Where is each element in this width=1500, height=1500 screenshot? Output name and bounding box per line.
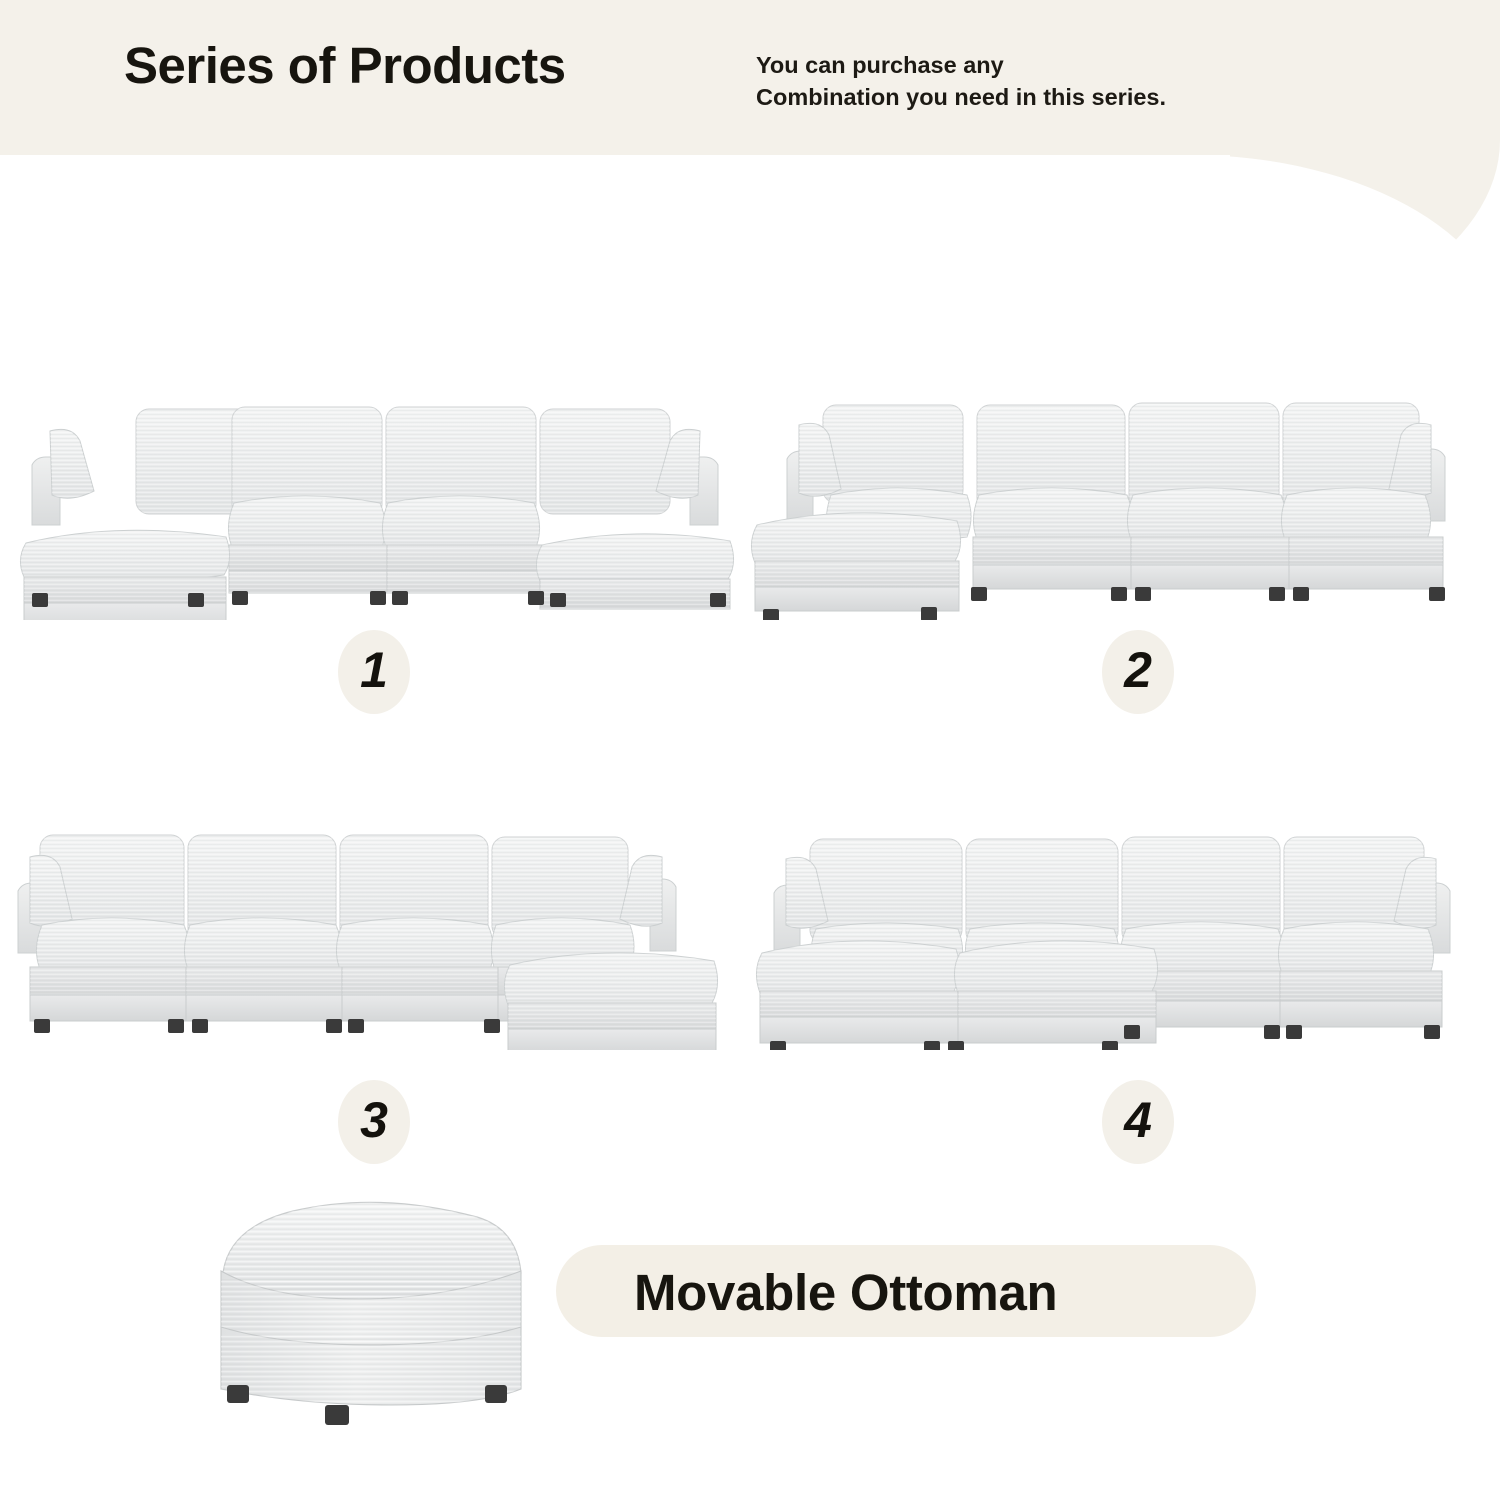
product-image-3 xyxy=(10,825,730,1050)
badge-number: 1 xyxy=(360,645,388,695)
product-series-infographic: Series of Products You can purchase any … xyxy=(0,0,1500,1500)
product-badge-1: 1 xyxy=(338,630,410,714)
seat-cushions xyxy=(1120,922,1433,978)
seat-cushions xyxy=(973,488,1430,544)
seat-cushions xyxy=(228,496,539,552)
ottoman-right xyxy=(504,953,717,1050)
banner-bottom-mask xyxy=(0,155,1230,345)
product-image-2 xyxy=(745,395,1465,620)
movable-ottoman-label: Movable Ottoman xyxy=(634,1253,1254,1331)
ottoman-right xyxy=(536,534,733,609)
header-subtitle: You can purchase any Combination you nee… xyxy=(756,50,1166,113)
badge-number: 3 xyxy=(360,1095,388,1145)
product-badge-3: 3 xyxy=(338,1080,410,1164)
seat-bases xyxy=(973,537,1443,589)
product-image-1 xyxy=(10,395,740,620)
seat-bases xyxy=(1120,971,1442,1027)
badge-number: 4 xyxy=(1124,1095,1152,1145)
badge-number: 2 xyxy=(1124,645,1152,695)
ottoman-left xyxy=(751,513,960,611)
page-title: Series of Products xyxy=(124,36,566,95)
banner-corner-mask xyxy=(1180,155,1500,345)
product-badge-2: 2 xyxy=(1102,630,1174,714)
seat-bases xyxy=(229,545,545,593)
ottoman-front-1 xyxy=(756,941,959,1043)
movable-ottoman-image xyxy=(205,1195,565,1430)
product-badge-4: 4 xyxy=(1102,1080,1174,1164)
product-image-4 xyxy=(752,825,1467,1050)
seat-cushions xyxy=(36,918,493,974)
ottoman-body-lower xyxy=(221,1327,521,1405)
